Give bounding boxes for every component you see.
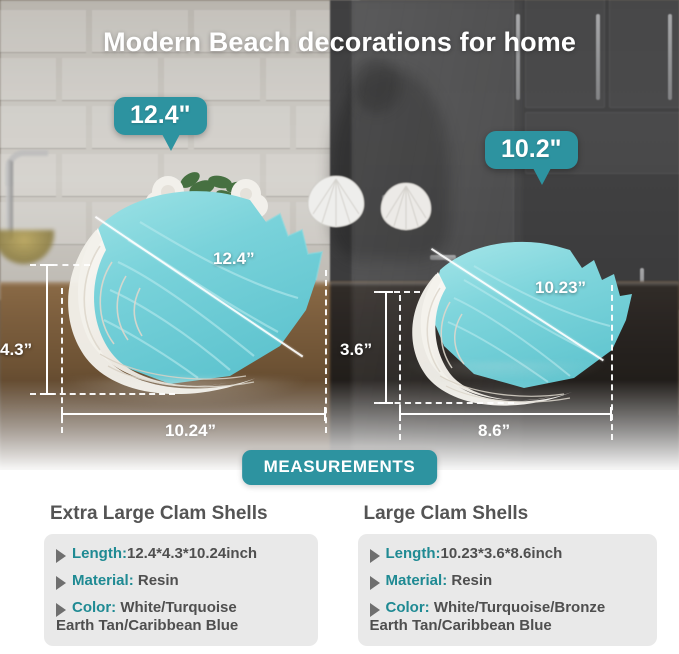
clam-shell-extra-large [40, 170, 330, 400]
dim-label-diagonal-left: 12.4” [213, 249, 255, 269]
spec-box-extra-large: Length:12.4*4.3*10.24inch Material: Resi… [44, 534, 318, 646]
callout-label-left: 12.4" [114, 97, 207, 135]
dim-label-height-left: 4.3” [0, 340, 32, 360]
spec-key-material: Material: [72, 572, 134, 589]
spec-key-length: Length: [386, 545, 441, 562]
dim-label-diagonal-right: 10.23” [535, 278, 586, 298]
spec-row-material: Material: Resin [54, 572, 306, 590]
measurements-banner: MEASUREMENTS [242, 450, 438, 485]
callout-badge-right: 10.2" [485, 131, 578, 169]
dim-ext-left-top [30, 264, 90, 266]
spec-value-color: White/Turquoise/Bronze [430, 599, 606, 616]
spec-key-color: Color: [72, 599, 116, 616]
product-infographic: 4.3” 10.24” 12.4” 3.6” 8.6” 10.23” Moder… [0, 0, 679, 654]
spec-title-large: Large Clam Shells [364, 503, 658, 525]
triangle-bullet-icon [370, 603, 380, 617]
spec-row-material: Material: Resin [368, 572, 646, 590]
spec-title-extra-large: Extra Large Clam Shells [50, 503, 318, 525]
triangle-bullet-icon [370, 576, 380, 590]
page-title: Modern Beach decorations for home [0, 27, 679, 58]
spec-column-large: Large Clam Shells Length:10.23*3.6*8.6in… [340, 495, 679, 654]
callout-tail-right [533, 168, 551, 185]
spec-key-material: Material: [386, 572, 448, 589]
triangle-bullet-icon [56, 549, 66, 563]
spec-row-color: Color: White/Turquoise/Bronze Earth Tan/… [368, 599, 646, 634]
photo-scene: 4.3” 10.24” 12.4” 3.6” 8.6” 10.23” [0, 0, 679, 470]
spec-box-large: Length:10.23*3.6*8.6inch Material: Resin… [358, 534, 658, 646]
specifications-section: Extra Large Clam Shells Length:12.4*4.3*… [0, 495, 679, 654]
spec-key-color: Color: [386, 599, 430, 616]
spec-column-extra-large: Extra Large Clam Shells Length:12.4*4.3*… [0, 495, 340, 654]
callout-badge-left: 12.4" [114, 97, 207, 135]
spec-value-material: Resin [447, 572, 492, 589]
spec-value-color-line2: Earth Tan/Caribbean Blue [56, 617, 238, 635]
spec-value-color: White/Turquoise [116, 599, 237, 616]
callout-tail-left [162, 134, 180, 151]
spec-value-length: 10.23*3.6*8.6inch [440, 545, 562, 562]
spec-value-color-line2: Earth Tan/Caribbean Blue [370, 617, 606, 635]
callout-label-right: 10.2" [485, 131, 578, 169]
spec-row-color: Color: White/Turquoise Earth Tan/Caribbe… [54, 599, 306, 634]
triangle-bullet-icon [56, 603, 66, 617]
spec-row-length: Length:10.23*3.6*8.6inch [368, 545, 646, 563]
dim-line-height-left [46, 265, 48, 394]
mini-shell-icon-2 [378, 178, 434, 234]
spec-key-length: Length: [72, 545, 127, 562]
spec-value-material: Resin [134, 572, 179, 589]
triangle-bullet-icon [56, 576, 66, 590]
spec-row-length: Length:12.4*4.3*10.24inch [54, 545, 306, 563]
spec-value-length: 12.4*4.3*10.24inch [127, 545, 257, 562]
dim-label-height-right: 3.6” [340, 340, 372, 360]
triangle-bullet-icon [370, 549, 380, 563]
